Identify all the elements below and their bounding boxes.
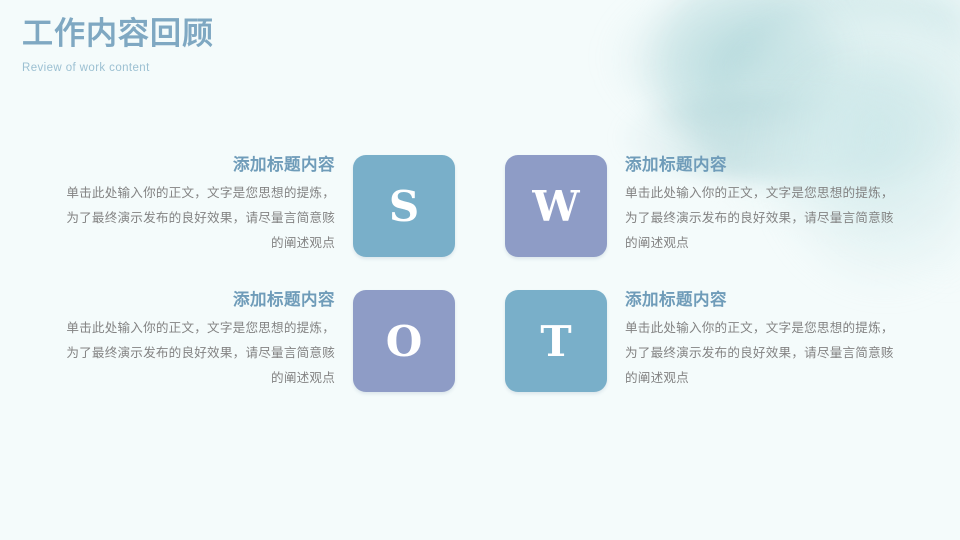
swot-cell-s[interactable]: 添加标题内容 单击此处输入你的正文，文字是您思想的提炼，为了最终演示发布的良好效… <box>57 155 455 257</box>
page-title: 工作内容回顾 <box>22 17 214 51</box>
watercolor-blob-2 <box>640 0 940 160</box>
swot-text-s: 添加标题内容 单击此处输入你的正文，文字是您思想的提炼，为了最终演示发布的良好效… <box>57 155 335 256</box>
swot-text-w: 添加标题内容 单击此处输入你的正文，文字是您思想的提炼，为了最终演示发布的良好效… <box>625 155 903 256</box>
swot-row-top: 添加标题内容 单击此处输入你的正文，文字是您思想的提炼，为了最终演示发布的良好效… <box>0 155 960 257</box>
swot-badge-o[interactable]: O <box>353 290 455 392</box>
watercolor-blob-1 <box>660 0 960 180</box>
swot-body-s: 单击此处输入你的正文，文字是您思想的提炼，为了最终演示发布的良好效果，请尽量言简… <box>57 181 335 256</box>
swot-body-o: 单击此处输入你的正文，文字是您思想的提炼，为了最终演示发布的良好效果，请尽量言简… <box>57 316 335 391</box>
swot-title-o: 添加标题内容 <box>57 290 335 310</box>
swot-badge-w[interactable]: W <box>505 155 607 257</box>
slide-header: 工作内容回顾 Review of work content <box>22 17 214 74</box>
swot-title-t: 添加标题内容 <box>625 290 903 310</box>
swot-cell-w[interactable]: W 添加标题内容 单击此处输入你的正文，文字是您思想的提炼，为了最终演示发布的良… <box>505 155 903 257</box>
swot-title-w: 添加标题内容 <box>625 155 903 175</box>
swot-body-w: 单击此处输入你的正文，文字是您思想的提炼，为了最终演示发布的良好效果，请尽量言简… <box>625 181 903 256</box>
slide-canvas: 工作内容回顾 Review of work content 添加标题内容 单击此… <box>0 0 960 540</box>
swot-text-o: 添加标题内容 单击此处输入你的正文，文字是您思想的提炼，为了最终演示发布的良好效… <box>57 290 335 391</box>
page-subtitle: Review of work content <box>22 62 214 74</box>
swot-row-bottom: 添加标题内容 单击此处输入你的正文，文字是您思想的提炼，为了最终演示发布的良好效… <box>0 290 960 392</box>
watercolor-blob-4 <box>610 0 840 130</box>
swot-cell-t[interactable]: T 添加标题内容 单击此处输入你的正文，文字是您思想的提炼，为了最终演示发布的良… <box>505 290 903 392</box>
swot-grid: 添加标题内容 单击此处输入你的正文，文字是您思想的提炼，为了最终演示发布的良好效… <box>0 155 960 392</box>
swot-text-t: 添加标题内容 单击此处输入你的正文，文字是您思想的提炼，为了最终演示发布的良好效… <box>625 290 903 391</box>
swot-body-t: 单击此处输入你的正文，文字是您思想的提炼，为了最终演示发布的良好效果，请尽量言简… <box>625 316 903 391</box>
swot-title-s: 添加标题内容 <box>57 155 335 175</box>
swot-badge-s[interactable]: S <box>353 155 455 257</box>
swot-badge-t[interactable]: T <box>505 290 607 392</box>
swot-cell-o[interactable]: 添加标题内容 单击此处输入你的正文，文字是您思想的提炼，为了最终演示发布的良好效… <box>57 290 455 392</box>
